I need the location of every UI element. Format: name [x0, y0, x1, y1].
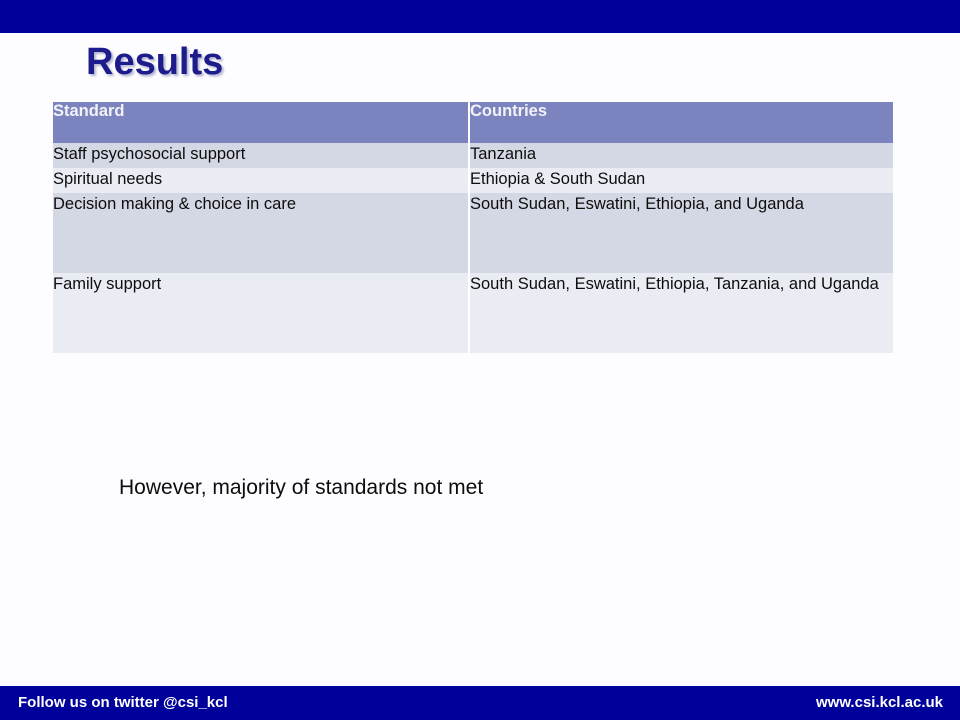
column-header-standard: Standard	[53, 102, 470, 143]
cell-countries: Tanzania	[470, 143, 893, 168]
footer-website-url: www.csi.kcl.ac.uk	[816, 694, 943, 711]
cell-standard: Family support	[53, 273, 470, 353]
cell-standard: Decision making & choice in care	[53, 193, 470, 273]
results-table: Standard Countries Staff psychosocial su…	[53, 102, 893, 353]
cell-countries: South Sudan, Eswatini, Ethiopia, and Uga…	[470, 193, 893, 273]
top-accent-bar	[0, 0, 960, 33]
summary-caption: However, majority of standards not met	[119, 476, 483, 500]
slide-canvas: { "theme": { "navy": "#00009B", "header_…	[0, 0, 960, 720]
table-header-row: Standard Countries	[53, 102, 893, 143]
table-row: Family support South Sudan, Eswatini, Et…	[53, 273, 893, 353]
cell-standard: Spiritual needs	[53, 168, 470, 193]
footer-twitter-handle: Follow us on twitter @csi_kcl	[18, 694, 228, 711]
table-row: Spiritual needs Ethiopia & South Sudan	[53, 168, 893, 193]
table-row: Decision making & choice in care South S…	[53, 193, 893, 273]
cell-standard: Staff psychosocial support	[53, 143, 470, 168]
table-row: Staff psychosocial support Tanzania	[53, 143, 893, 168]
page-title: Results	[86, 43, 223, 83]
footer-bar: Follow us on twitter @csi_kcl www.csi.kc…	[0, 686, 960, 720]
cell-countries: South Sudan, Eswatini, Ethiopia, Tanzani…	[470, 273, 893, 353]
column-header-countries: Countries	[470, 102, 893, 143]
cell-countries: Ethiopia & South Sudan	[470, 168, 893, 193]
